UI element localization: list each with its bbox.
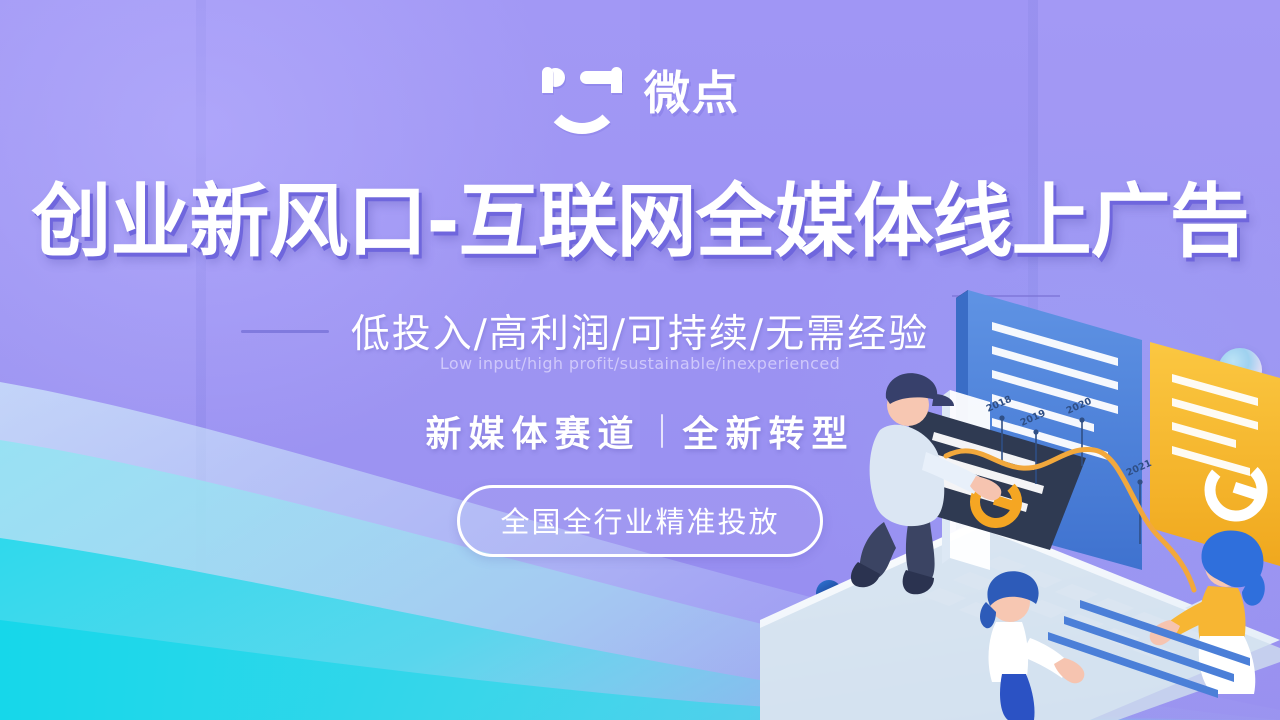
status-badge[interactable]: 全国全行业精准投放 (457, 485, 822, 557)
logo-smile-arc (542, 82, 622, 134)
subtitle-rule-left (241, 330, 329, 333)
subtitle-english: Low input/high profit/sustainable/inexpe… (0, 354, 1280, 373)
potted-plant-icon (795, 552, 865, 672)
tagline-row: 新媒体赛道 全新转型 (0, 405, 1280, 457)
subtitle-row: 低投入/高利润/可持续/无需经验 (0, 303, 1280, 359)
page-title: 创业新风口-互联网全媒体线上广告 (0, 182, 1280, 262)
promo-banner: 微点 创业新风口-互联网全媒体线上广告 低投入/高利润/可持续/无需经验 Low… (0, 0, 1280, 720)
smiley-face-icon (540, 52, 626, 128)
badge-wrap: 全国全行业精准投放 (0, 485, 1280, 557)
tagline-right: 全新转型 (683, 405, 855, 457)
brand-logo: 微点 (0, 52, 1280, 128)
tagline-divider-icon (661, 414, 663, 448)
decorative-rule-right (952, 295, 1060, 297)
brand-name: 微点 (644, 57, 740, 123)
tagline-left: 新媒体赛道 (425, 405, 640, 457)
subtitle-chinese: 低投入/高利润/可持续/无需经验 (351, 303, 929, 359)
